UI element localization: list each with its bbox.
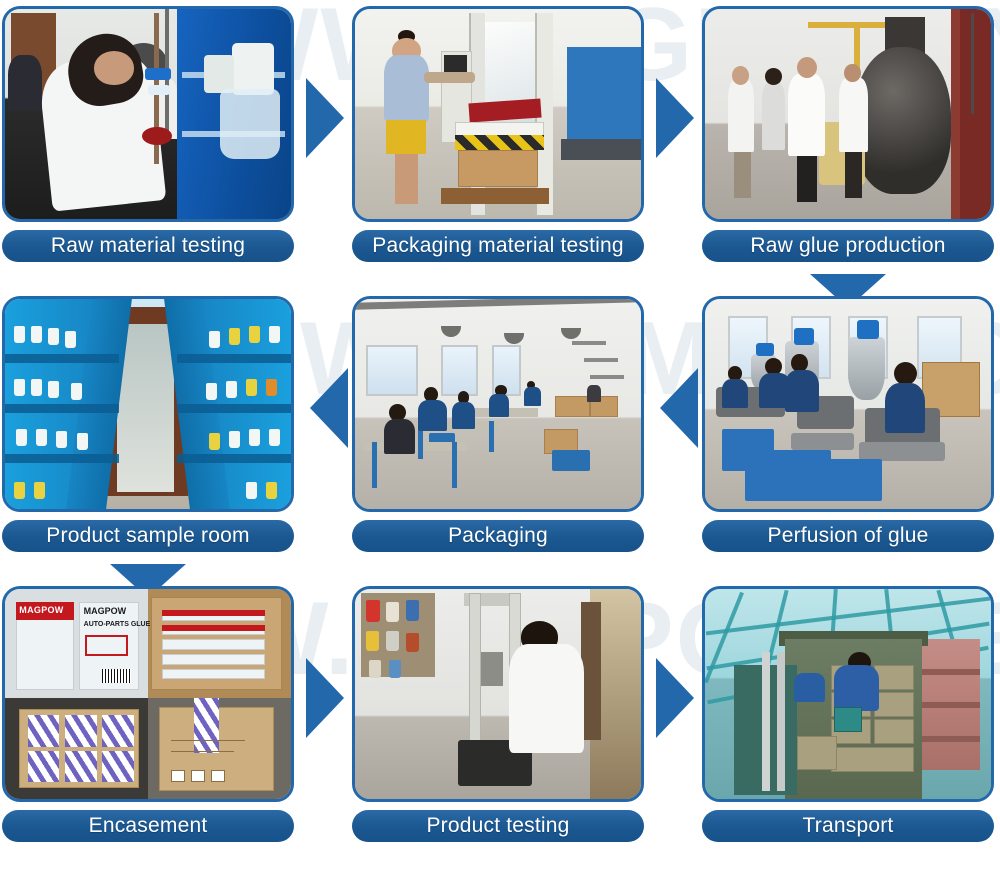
- gap-r2c3: [702, 566, 1000, 586]
- photo-frame-8: [352, 586, 644, 802]
- arrow-right-icon: [306, 78, 344, 158]
- arrow-left-icon: [310, 368, 348, 448]
- step-panel-6[interactable]: Perfusion of glue: [702, 296, 1000, 566]
- photo-frame-6: [702, 296, 994, 512]
- gap-r1a2: [652, 276, 702, 296]
- step-label-2: Packaging material testing: [352, 230, 644, 262]
- arrow-right-icon: [306, 658, 344, 738]
- step-label-9: Transport: [702, 810, 994, 842]
- step-label-4: Product sample room: [2, 520, 294, 552]
- step-panel-5[interactable]: Packaging: [352, 296, 652, 566]
- gap-r2a2: [652, 566, 702, 586]
- photo-frame-9: [702, 586, 994, 802]
- step-panel-9[interactable]: Transport: [702, 586, 1000, 856]
- photo-encasement: MAGPOW MAGPOW AUTO-PARTS GLUE: [5, 589, 291, 799]
- photo-frame-7: MAGPOW MAGPOW AUTO-PARTS GLUE: [2, 586, 294, 802]
- product-text-pack2: AUTO-PARTS GLUE: [84, 621, 151, 628]
- brand-text-pack1: MAGPOW: [19, 605, 63, 615]
- gap-r2c2: [352, 566, 652, 586]
- step-label-7: Encasement: [2, 810, 294, 842]
- photo-packaging: [355, 299, 641, 509]
- step-label-8: Product testing: [352, 810, 644, 842]
- gap-r1a1: [302, 276, 352, 296]
- step-panel-8[interactable]: Product testing: [352, 586, 652, 856]
- step-panel-7[interactable]: MAGPOW MAGPOW AUTO-PARTS GLUE: [2, 586, 302, 856]
- arrow-right-icon: [656, 658, 694, 738]
- step-label-1: Raw material testing: [2, 230, 294, 262]
- arrow-cell-3: [702, 276, 1000, 296]
- arrow-cell-7: [302, 586, 352, 856]
- gap-r2a1: [302, 566, 352, 586]
- photo-raw-material-testing: [5, 9, 291, 219]
- step-label-6: Perfusion of glue: [702, 520, 994, 552]
- photo-packaging-material-testing: [355, 9, 641, 219]
- photo-frame-2: [352, 6, 644, 222]
- gap-r1c1: [2, 276, 302, 296]
- arrow-cell-8: [652, 586, 702, 856]
- arrow-cell-5: [302, 296, 352, 566]
- photo-product-sample-room: [5, 299, 291, 509]
- step-panel-1[interactable]: Raw material testing: [2, 6, 302, 276]
- step-label-3: Raw glue production: [702, 230, 994, 262]
- step-panel-3[interactable]: Raw glue production: [702, 6, 1000, 276]
- arrow-right-icon: [656, 78, 694, 158]
- photo-frame-3: [702, 6, 994, 222]
- step-label-5: Packaging: [352, 520, 644, 552]
- step-panel-4[interactable]: Product sample room: [2, 296, 302, 566]
- arrow-left-icon: [660, 368, 698, 448]
- photo-frame-5: [352, 296, 644, 512]
- production-flow-infographic: WWW.MAGPOW.NET WWW.MAGPOW.NET WWW.MAGPOW…: [0, 0, 1000, 892]
- arrow-cell-1: [302, 6, 352, 276]
- photo-product-testing: [355, 589, 641, 799]
- photo-raw-glue-production: [705, 9, 991, 219]
- photo-perfusion-of-glue: [705, 299, 991, 509]
- gap-r1c2: [352, 276, 652, 296]
- photo-transport: [705, 589, 991, 799]
- arrow-cell-6: [2, 566, 302, 586]
- photo-frame-1: [2, 6, 294, 222]
- brand-text-pack2: MAGPOW: [84, 606, 127, 616]
- photo-frame-4: [2, 296, 294, 512]
- flow-grid: Raw material testing: [0, 0, 1000, 856]
- arrow-cell-4: [652, 296, 702, 566]
- arrow-cell-2: [652, 6, 702, 276]
- step-panel-2[interactable]: Packaging material testing: [352, 6, 652, 276]
